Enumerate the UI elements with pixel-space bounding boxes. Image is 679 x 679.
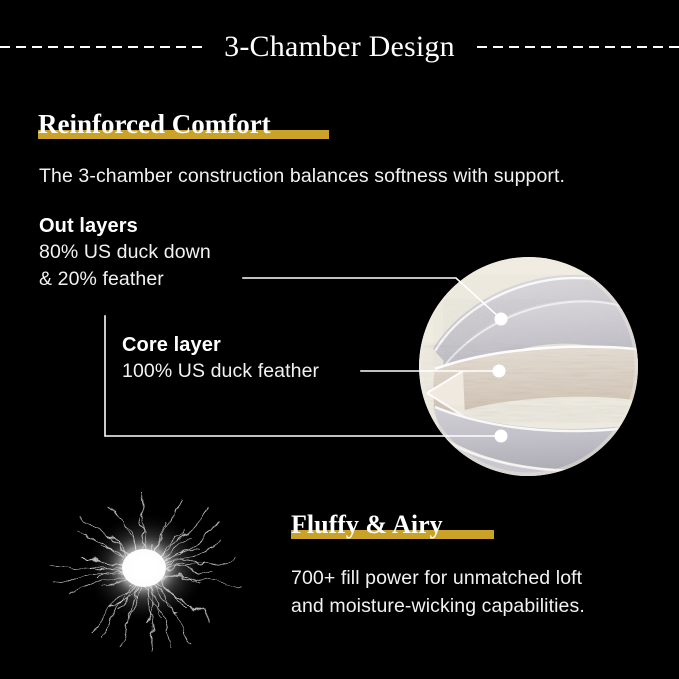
- dashed-rule-left: [0, 46, 208, 48]
- heading-reinforced-comfort: Reinforced Comfort: [38, 110, 271, 138]
- fluffy-paragraph-line1: 700+ fill power for unmatched loft: [291, 565, 585, 593]
- callout-core-layer: Core layer 100% US duck feather: [122, 332, 319, 385]
- infographic-canvas: 3-Chamber Design Reinforced Comfort The …: [0, 0, 679, 679]
- dashed-rule-right: [471, 46, 679, 48]
- callout-out-layers-line1: 80% US duck down: [39, 239, 211, 266]
- callout-out-layers-line2: & 20% feather: [39, 266, 211, 293]
- title-band: 3-Chamber Design: [0, 27, 679, 67]
- callout-core-layer-title: Core layer: [122, 332, 319, 358]
- intro-paragraph: The 3-chamber construction balances soft…: [39, 163, 565, 191]
- pillow-cutaway-circle: [419, 257, 638, 476]
- heading-reinforced-comfort-label: Reinforced Comfort: [38, 109, 271, 139]
- down-cluster-photo: [38, 484, 270, 656]
- callout-core-layer-line1: 100% US duck feather: [122, 358, 319, 385]
- fluffy-paragraph-line2: and moisture-wicking capabilities.: [291, 593, 585, 621]
- heading-fluffy-airy: Fluffy & Airy: [291, 511, 443, 538]
- heading-fluffy-airy-label: Fluffy & Airy: [291, 510, 443, 539]
- fluffy-paragraph: 700+ fill power for unmatched loft and m…: [291, 565, 585, 620]
- callout-out-layers-title: Out layers: [39, 213, 211, 239]
- callout-out-layers: Out layers 80% US duck down & 20% feathe…: [39, 213, 211, 292]
- page-title: 3-Chamber Design: [208, 32, 471, 62]
